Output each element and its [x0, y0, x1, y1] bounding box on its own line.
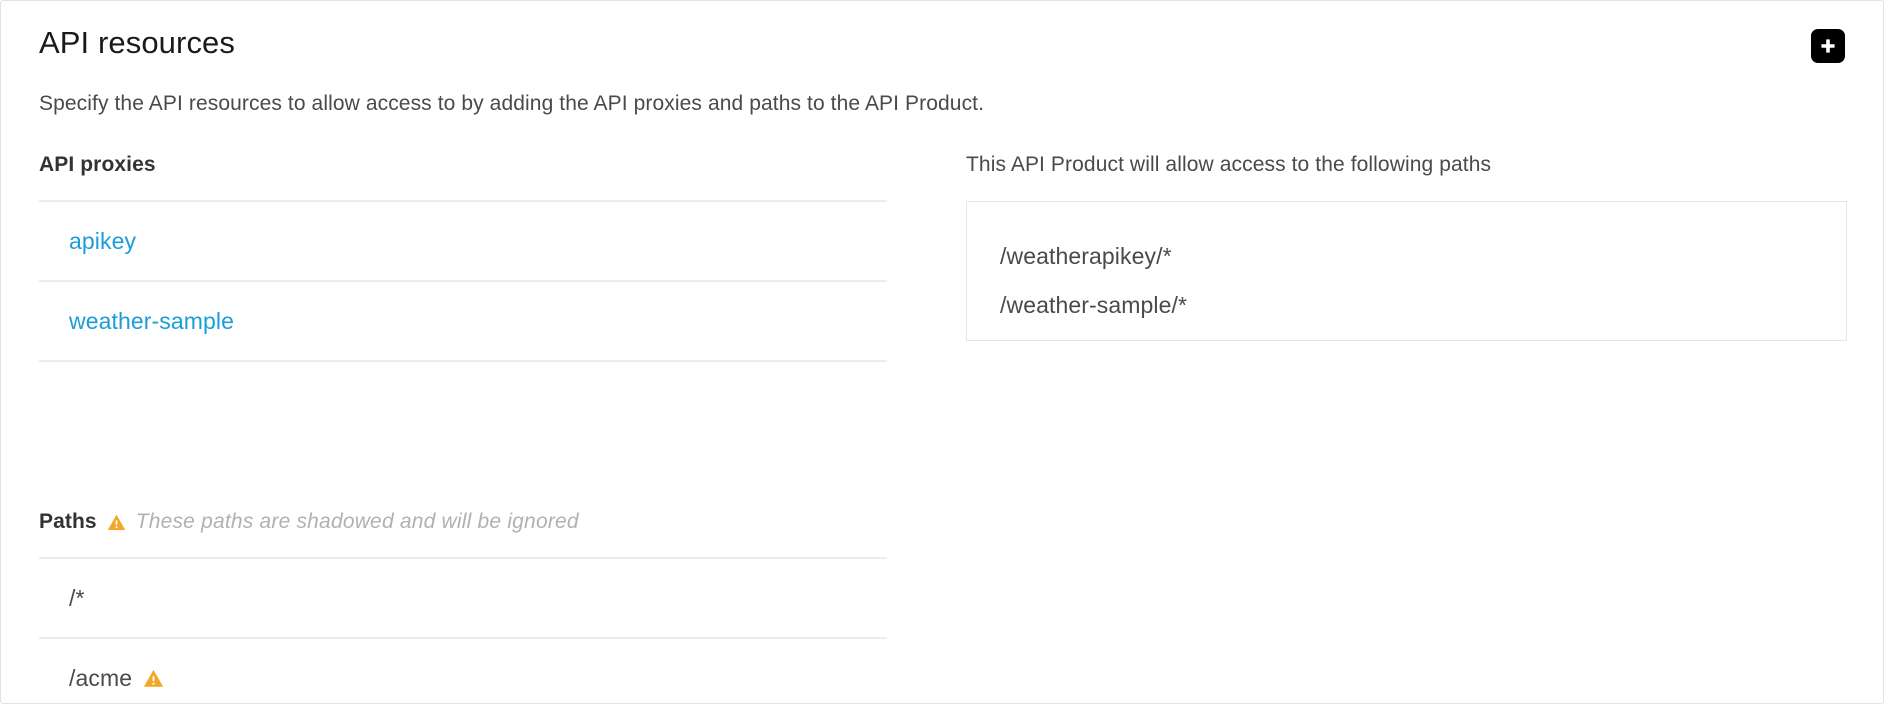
paths-list: /* /acme [39, 557, 887, 704]
left-column: API proxies apikey weather-sample Paths [39, 151, 899, 704]
allowed-path-item: /weatherapikey/* [1000, 232, 1846, 281]
api-proxies-list: apikey weather-sample [39, 200, 887, 362]
add-resource-button[interactable] [1811, 29, 1845, 63]
list-item[interactable]: apikey [39, 202, 887, 282]
allowed-paths-title: This API Product will allow access to th… [966, 151, 1845, 179]
list-item[interactable]: /* [39, 559, 887, 639]
paths-shadowed-note: These paths are shadowed and will be ign… [136, 508, 579, 536]
path-value: /* [69, 585, 85, 612]
api-proxies-heading: API proxies [39, 151, 899, 179]
api-resources-card: API resources Specify the API resources … [0, 0, 1884, 704]
card-header: API resources [39, 23, 1845, 79]
warning-triangle-icon [107, 513, 126, 532]
list-item[interactable]: weather-sample [39, 282, 887, 362]
proxy-link-weather-sample[interactable]: weather-sample [69, 308, 234, 335]
allowed-paths-box: /weatherapikey/* /weather-sample/* [966, 201, 1847, 341]
card-description: Specify the API resources to allow acces… [39, 89, 984, 119]
right-column: This API Product will allow access to th… [966, 151, 1845, 341]
warning-triangle-icon [143, 668, 164, 689]
paths-section: Paths These paths are shadowed and will … [39, 508, 899, 704]
plus-icon [1818, 36, 1838, 56]
api-proxies-label: API proxies [39, 151, 156, 179]
path-value: /acme [69, 665, 132, 692]
paths-label: Paths [39, 508, 97, 536]
card-body: API proxies apikey weather-sample Paths [1, 151, 1883, 703]
page-title: API resources [39, 23, 1845, 63]
allowed-path-item: /weather-sample/* [1000, 281, 1846, 330]
list-item[interactable]: /acme [39, 639, 887, 704]
proxy-link-apikey[interactable]: apikey [69, 228, 136, 255]
paths-heading: Paths These paths are shadowed and will … [39, 508, 899, 536]
